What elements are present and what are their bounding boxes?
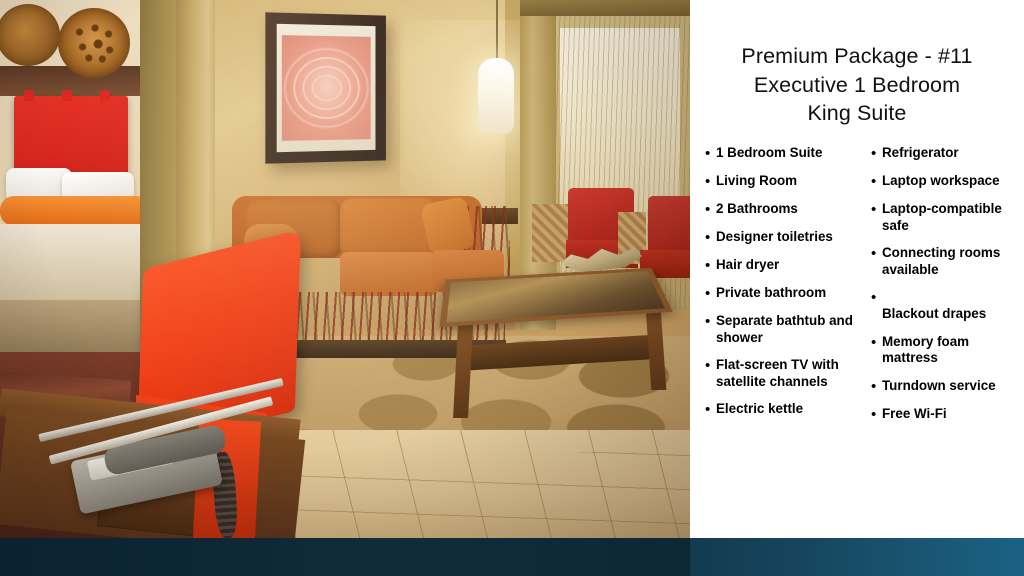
bullet-icon: • xyxy=(702,357,716,374)
list-item: • Free Wi-Fi xyxy=(868,406,1024,423)
list-item-label: Blackout drapes xyxy=(882,289,986,322)
bullet-icon: • xyxy=(868,245,882,262)
bullet-icon: • xyxy=(868,378,882,395)
list-item-label: Electric kettle xyxy=(716,401,803,418)
list-item: • Designer toiletries xyxy=(702,229,858,246)
list-item: • Private bathroom xyxy=(702,285,858,302)
list-item-label: Separate bathtub and shower xyxy=(716,313,858,346)
bullet-icon: • xyxy=(702,201,716,218)
bullet-icon: • xyxy=(868,173,882,190)
bullet-icon: • xyxy=(702,313,716,330)
list-item-label: Private bathroom xyxy=(716,285,826,302)
list-item-label: Laptop workspace xyxy=(882,173,1000,190)
title-line-1: Premium Package - #11 xyxy=(690,42,1024,71)
bullet-icon: • xyxy=(702,229,716,246)
list-item-label: Turndown service xyxy=(882,378,996,395)
list-item-label: Memory foam mattress xyxy=(882,334,1024,367)
bullet-icon: • xyxy=(868,145,882,162)
list-item: • Electric kettle xyxy=(702,401,858,418)
photo-vignette xyxy=(0,0,690,538)
list-item-label: Laptop-compatible safe xyxy=(882,201,1024,234)
list-item-label: Hair dryer xyxy=(716,257,779,274)
bullet-icon: • xyxy=(702,145,716,162)
list-item-label: Refrigerator xyxy=(882,145,959,162)
bullet-icon: • xyxy=(868,406,882,423)
list-item: • Memory foam mattress xyxy=(868,334,1024,367)
bullet-icon: • xyxy=(868,201,882,218)
info-panel: Premium Package - #11 Executive 1 Bedroo… xyxy=(690,0,1024,538)
list-item-label: Free Wi-Fi xyxy=(882,406,947,423)
list-item: • Laptop-compatible safe xyxy=(868,201,1024,234)
list-item: • Turndown service xyxy=(868,378,1024,395)
list-item-label: 2 Bathrooms xyxy=(716,201,798,218)
list-item: • Blackout drapes xyxy=(868,289,1024,322)
slide-title: Premium Package - #11 Executive 1 Bedroo… xyxy=(690,42,1024,128)
amenities-column-left: • 1 Bedroom Suite • Living Room • 2 Bath… xyxy=(702,145,858,434)
suite-photo xyxy=(0,0,690,538)
title-line-2: Executive 1 Bedroom xyxy=(690,71,1024,100)
list-item-label: Connecting rooms available xyxy=(882,245,1024,278)
list-item: • Separate bathtub and shower xyxy=(702,313,858,346)
list-item: • Laptop workspace xyxy=(868,173,1024,190)
bullet-icon: • xyxy=(702,285,716,302)
bullet-icon: • xyxy=(702,257,716,274)
list-item: • Living Room xyxy=(702,173,858,190)
list-item: • 2 Bathrooms xyxy=(702,201,858,218)
list-item-label: 1 Bedroom Suite xyxy=(716,145,822,162)
bullet-icon: • xyxy=(702,173,716,190)
presentation-slide: Premium Package - #11 Executive 1 Bedroo… xyxy=(0,0,1024,576)
list-item: • Refrigerator xyxy=(868,145,1024,162)
footer-bar-left xyxy=(0,538,690,576)
list-item: • Flat-screen TV with satellite channels xyxy=(702,357,858,390)
list-item-label: Living Room xyxy=(716,173,797,190)
bullet-icon: • xyxy=(702,401,716,418)
list-item: • 1 Bedroom Suite xyxy=(702,145,858,162)
bullet-icon: • xyxy=(868,289,882,306)
list-item-label: Flat-screen TV with satellite channels xyxy=(716,357,858,390)
bullet-icon: • xyxy=(868,334,882,351)
list-item: • Connecting rooms available xyxy=(868,245,1024,278)
list-item: • Hair dryer xyxy=(702,257,858,274)
amenities-columns: • 1 Bedroom Suite • Living Room • 2 Bath… xyxy=(702,145,1024,434)
title-line-3: King Suite xyxy=(690,99,1024,128)
list-item-label: Designer toiletries xyxy=(716,229,833,246)
amenities-column-right: • Refrigerator • Laptop workspace • Lapt… xyxy=(868,145,1024,434)
